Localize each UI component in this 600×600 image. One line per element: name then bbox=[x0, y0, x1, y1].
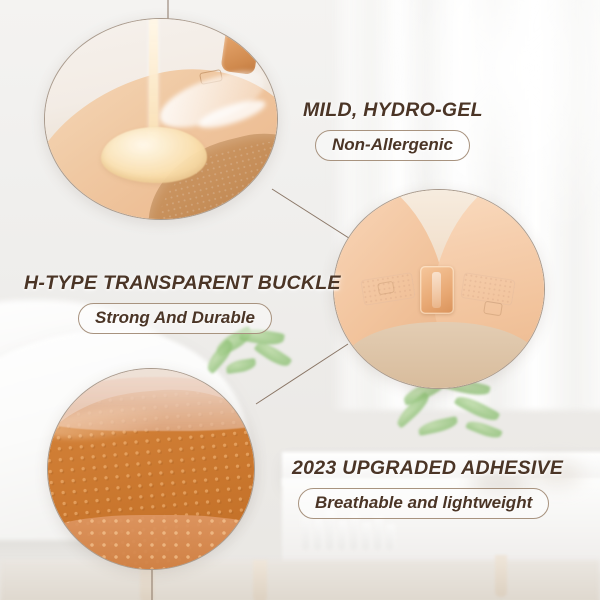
callout-headline: MILD, HYDRO-GEL bbox=[303, 99, 483, 122]
callout-badge: Breathable and lightweight bbox=[298, 488, 549, 519]
callout-badge: Non-Allergenic bbox=[315, 130, 470, 161]
gel-pour-stream bbox=[149, 18, 158, 141]
callout-upgraded-adhesive: 2023 UPGRADED ADHESIVE Breathable and li… bbox=[292, 457, 563, 519]
buckle-slot bbox=[432, 272, 441, 308]
cup-pull-tab bbox=[220, 31, 259, 75]
callout-headline: 2023 UPGRADED ADHESIVE bbox=[292, 457, 563, 480]
callout-headline: H-TYPE TRANSPARENT BUCKLE bbox=[24, 272, 341, 295]
product-photo-h-type-buckle bbox=[333, 189, 545, 389]
callout-h-type-buckle: H-TYPE TRANSPARENT BUCKLE Strong And Dur… bbox=[24, 272, 341, 334]
cup-embossed-logo bbox=[483, 301, 503, 317]
product-photo-upgraded-adhesive bbox=[47, 368, 255, 570]
gel-puddle bbox=[101, 127, 207, 183]
callout-hydro-gel: MILD, HYDRO-GEL Non-Allergenic bbox=[303, 99, 483, 161]
adhesive-fold-texture bbox=[47, 515, 255, 570]
product-photo-hydro-gel bbox=[44, 18, 278, 220]
infographic-canvas: MILD, HYDRO-GEL Non-Allergenic H-TYPE TR… bbox=[0, 0, 600, 600]
callout-badge: Strong And Durable bbox=[78, 303, 272, 334]
